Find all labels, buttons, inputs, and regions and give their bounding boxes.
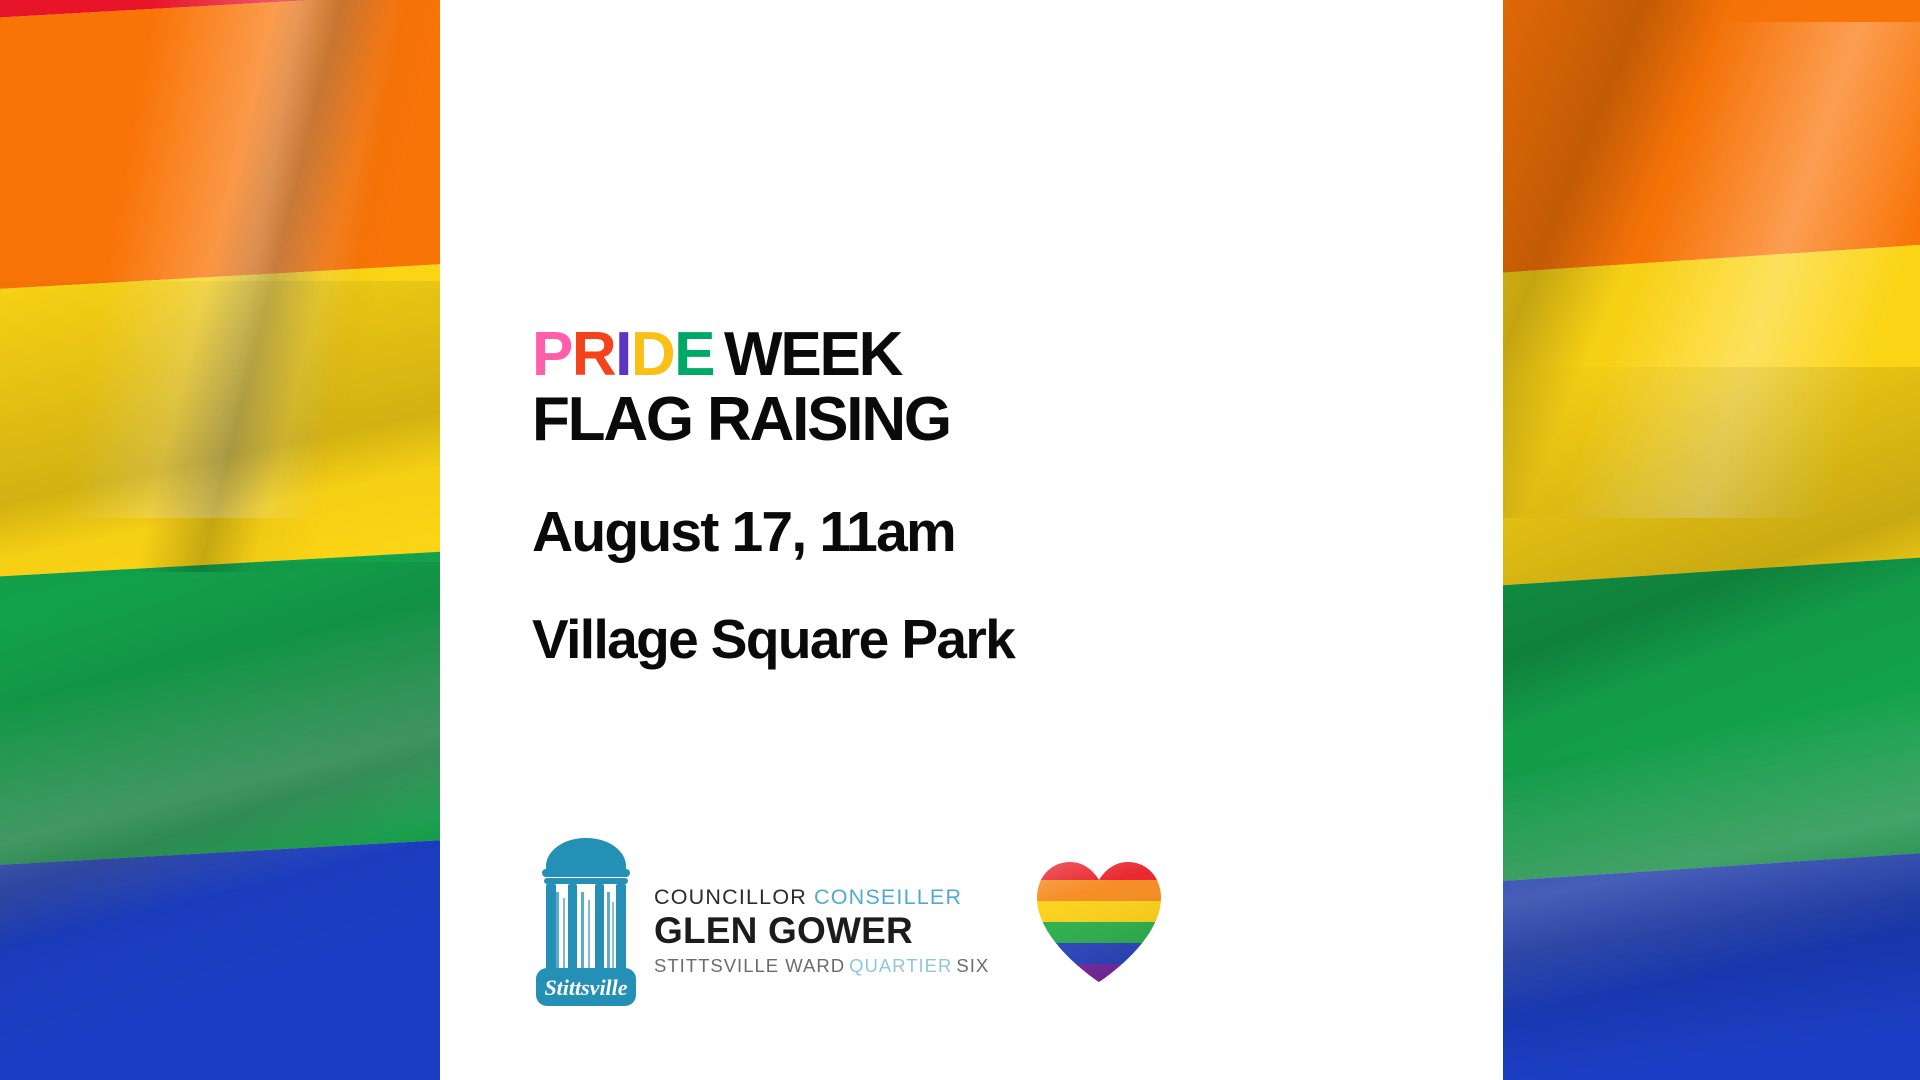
rainbow-flag-stripes-right [1503, 0, 1920, 1080]
stittsville-gazebo-icon: Stittsville [534, 836, 638, 1008]
heart-shading [1033, 858, 1165, 986]
wordmark-ward-en: STITTSVILLE WARD [654, 955, 845, 976]
rainbow-heart-icon [1033, 858, 1165, 986]
wordmark-ward-number: SIX [956, 955, 989, 976]
flag-stripe-orange [1503, 0, 1920, 284]
pride-week-heading: PRIDEWEEK [532, 325, 1432, 386]
event-location: Village Square Park [532, 607, 1432, 671]
wordmark-title-line: COUNCILLORCONSEILLER [654, 887, 989, 909]
pride-week-poster: PRIDEWEEK FLAG RAISING August 17, 11am V… [0, 0, 1920, 1080]
wordmark-title-en: COUNCILLOR [654, 885, 807, 909]
pride-letter-r: R [572, 320, 615, 389]
week-word: WEEK [724, 320, 901, 389]
poster-content-panel: PRIDEWEEK FLAG RAISING August 17, 11am V… [440, 0, 1503, 1080]
pride-letter-i: I [615, 320, 631, 389]
flag-stripe-green [0, 545, 440, 871]
councillor-wordmark: COUNCILLORCONSEILLER GLEN GOWER STITTSVI… [654, 869, 989, 976]
gazebo-banner-label: Stittsville [544, 975, 627, 1000]
flag-stripe-green [1503, 551, 1920, 890]
footer-logo-row: Stittsville COUNCILLORCONSEILLER GLEN GO… [534, 836, 1165, 1008]
pride-letter-d: D [631, 320, 674, 389]
flag-stripe-blue [0, 832, 440, 1080]
event-date-time: August 17, 11am [532, 499, 1432, 565]
rainbow-flag-left-panel [0, 0, 440, 1080]
rainbow-flag-right-panel [1503, 0, 1920, 1080]
flag-stripe-yellow [1503, 239, 1920, 594]
flag-stripe-yellow [0, 258, 440, 584]
rainbow-flag-stripes-left [0, 0, 440, 1080]
headline-block: PRIDEWEEK FLAG RAISING August 17, 11am V… [532, 325, 1432, 671]
wordmark-name: GLEN GOWER [654, 912, 989, 951]
pride-letter-p: P [532, 320, 572, 389]
wordmark-ward-line: STITTSVILLE WARDQUARTIERSIX [654, 957, 989, 976]
flag-stripe-blue [1503, 845, 1920, 1080]
wordmark-ward-fr: QUARTIER [849, 955, 952, 976]
flag-stripe-orange [0, 0, 440, 297]
flag-raising-heading: FLAG RAISING [532, 388, 1432, 451]
wordmark-title-fr: CONSEILLER [814, 885, 962, 909]
pride-letter-e: E [674, 320, 714, 389]
